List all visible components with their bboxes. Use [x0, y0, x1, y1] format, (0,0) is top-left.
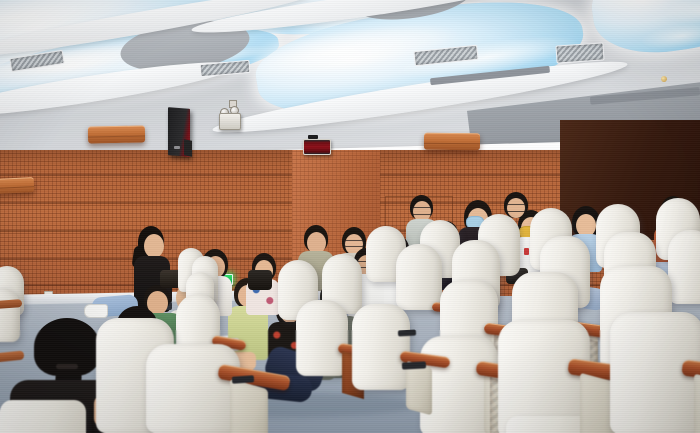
- wood-ledge-lower-left: [0, 177, 34, 194]
- badge-lanyard: [524, 248, 529, 255]
- emergency-light-body: [219, 113, 241, 130]
- speaker-badge: [174, 146, 180, 149]
- air-vent-far-right: [555, 42, 604, 63]
- ceiling-spot-icon: [661, 76, 667, 82]
- speaker-bracket: [184, 139, 192, 156]
- handbag: [248, 270, 272, 290]
- hair-tie: [56, 364, 78, 369]
- wood-ledge-center: [424, 133, 480, 150]
- wood-ledge-upper-left: [88, 126, 145, 144]
- red-wall-unit: [303, 139, 331, 155]
- auditorium-photo: [0, 0, 700, 433]
- sneaker-2: [84, 304, 108, 318]
- seat-leg: [402, 361, 426, 369]
- seat-leg: [398, 330, 416, 337]
